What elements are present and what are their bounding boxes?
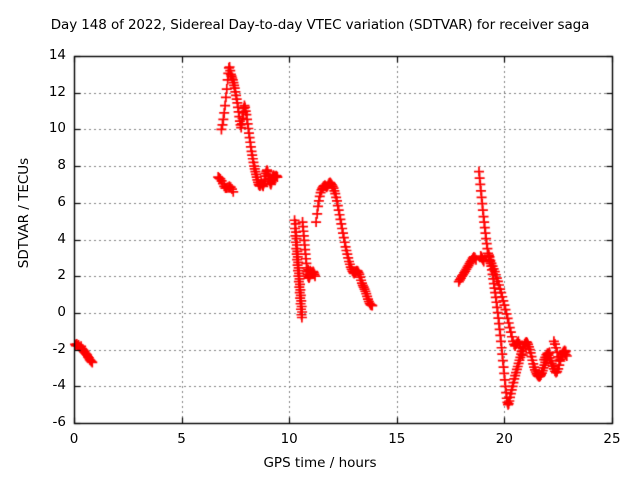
x-tick-label: 0 — [44, 431, 104, 447]
x-tick-label: 15 — [367, 431, 427, 447]
x-tick-label: 10 — [259, 431, 319, 447]
y-axis-label: SDTVAR / TECUs — [16, 123, 32, 303]
chart-figure: Day 148 of 2022, Sidereal Day-to-day VTE… — [0, 0, 640, 480]
y-tick-label: 2 — [57, 267, 66, 283]
y-tick-label: 4 — [57, 231, 66, 247]
x-tick-label: 20 — [474, 431, 534, 447]
y-tick-label: 12 — [49, 84, 66, 100]
y-tick-label: -4 — [53, 377, 66, 393]
y-tick-label: 6 — [57, 194, 66, 210]
scatter-plot-canvas — [0, 0, 640, 480]
x-tick-label: 25 — [582, 431, 640, 447]
y-tick-label: 0 — [57, 304, 66, 320]
x-axis-label: GPS time / hours — [0, 455, 640, 471]
y-tick-label: 14 — [49, 47, 66, 63]
y-tick-label: -2 — [53, 341, 66, 357]
y-tick-label: 8 — [57, 157, 66, 173]
y-tick-label: -6 — [53, 414, 66, 430]
x-tick-label: 5 — [152, 431, 212, 447]
y-tick-label: 10 — [49, 120, 66, 136]
